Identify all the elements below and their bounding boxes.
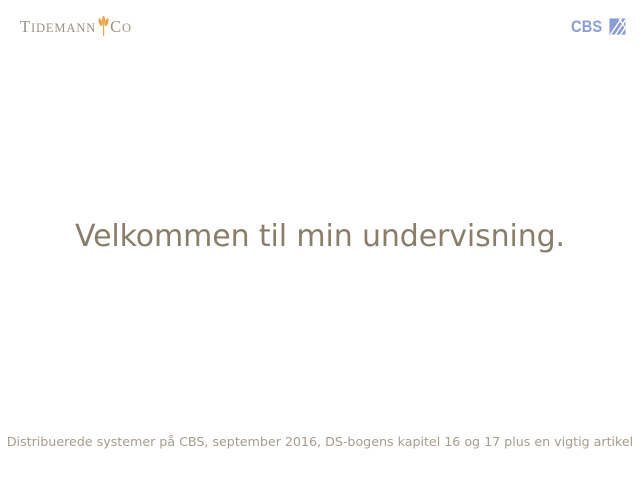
brand-logo-tidemann-smallcaps: IDEMANN [31, 21, 96, 35]
brand-logo-co-smallcaps: O [122, 21, 132, 35]
presentation-slide: TIDEMANN CO CBS [0, 0, 640, 480]
brand-logo-word-tidemann: TIDEMANN [20, 19, 96, 36]
brand-logo-co-initial: C [110, 17, 122, 36]
brand-logo-tidemann-co[interactable]: TIDEMANN CO [20, 16, 132, 38]
cbs-diagonal-square-icon [609, 18, 626, 35]
wheat-stalk-icon [97, 16, 110, 38]
slide-footer-caption: Distribuerede systemer på CBS, september… [0, 434, 640, 451]
brand-logo-word-co: CO [110, 19, 132, 36]
slide-headline: Velkommen til min undervisning. [0, 218, 640, 256]
brand-logo-tidemann-initial: T [20, 17, 31, 36]
cbs-logo[interactable]: CBS [571, 16, 626, 36]
cbs-logo-text: CBS [571, 18, 602, 35]
